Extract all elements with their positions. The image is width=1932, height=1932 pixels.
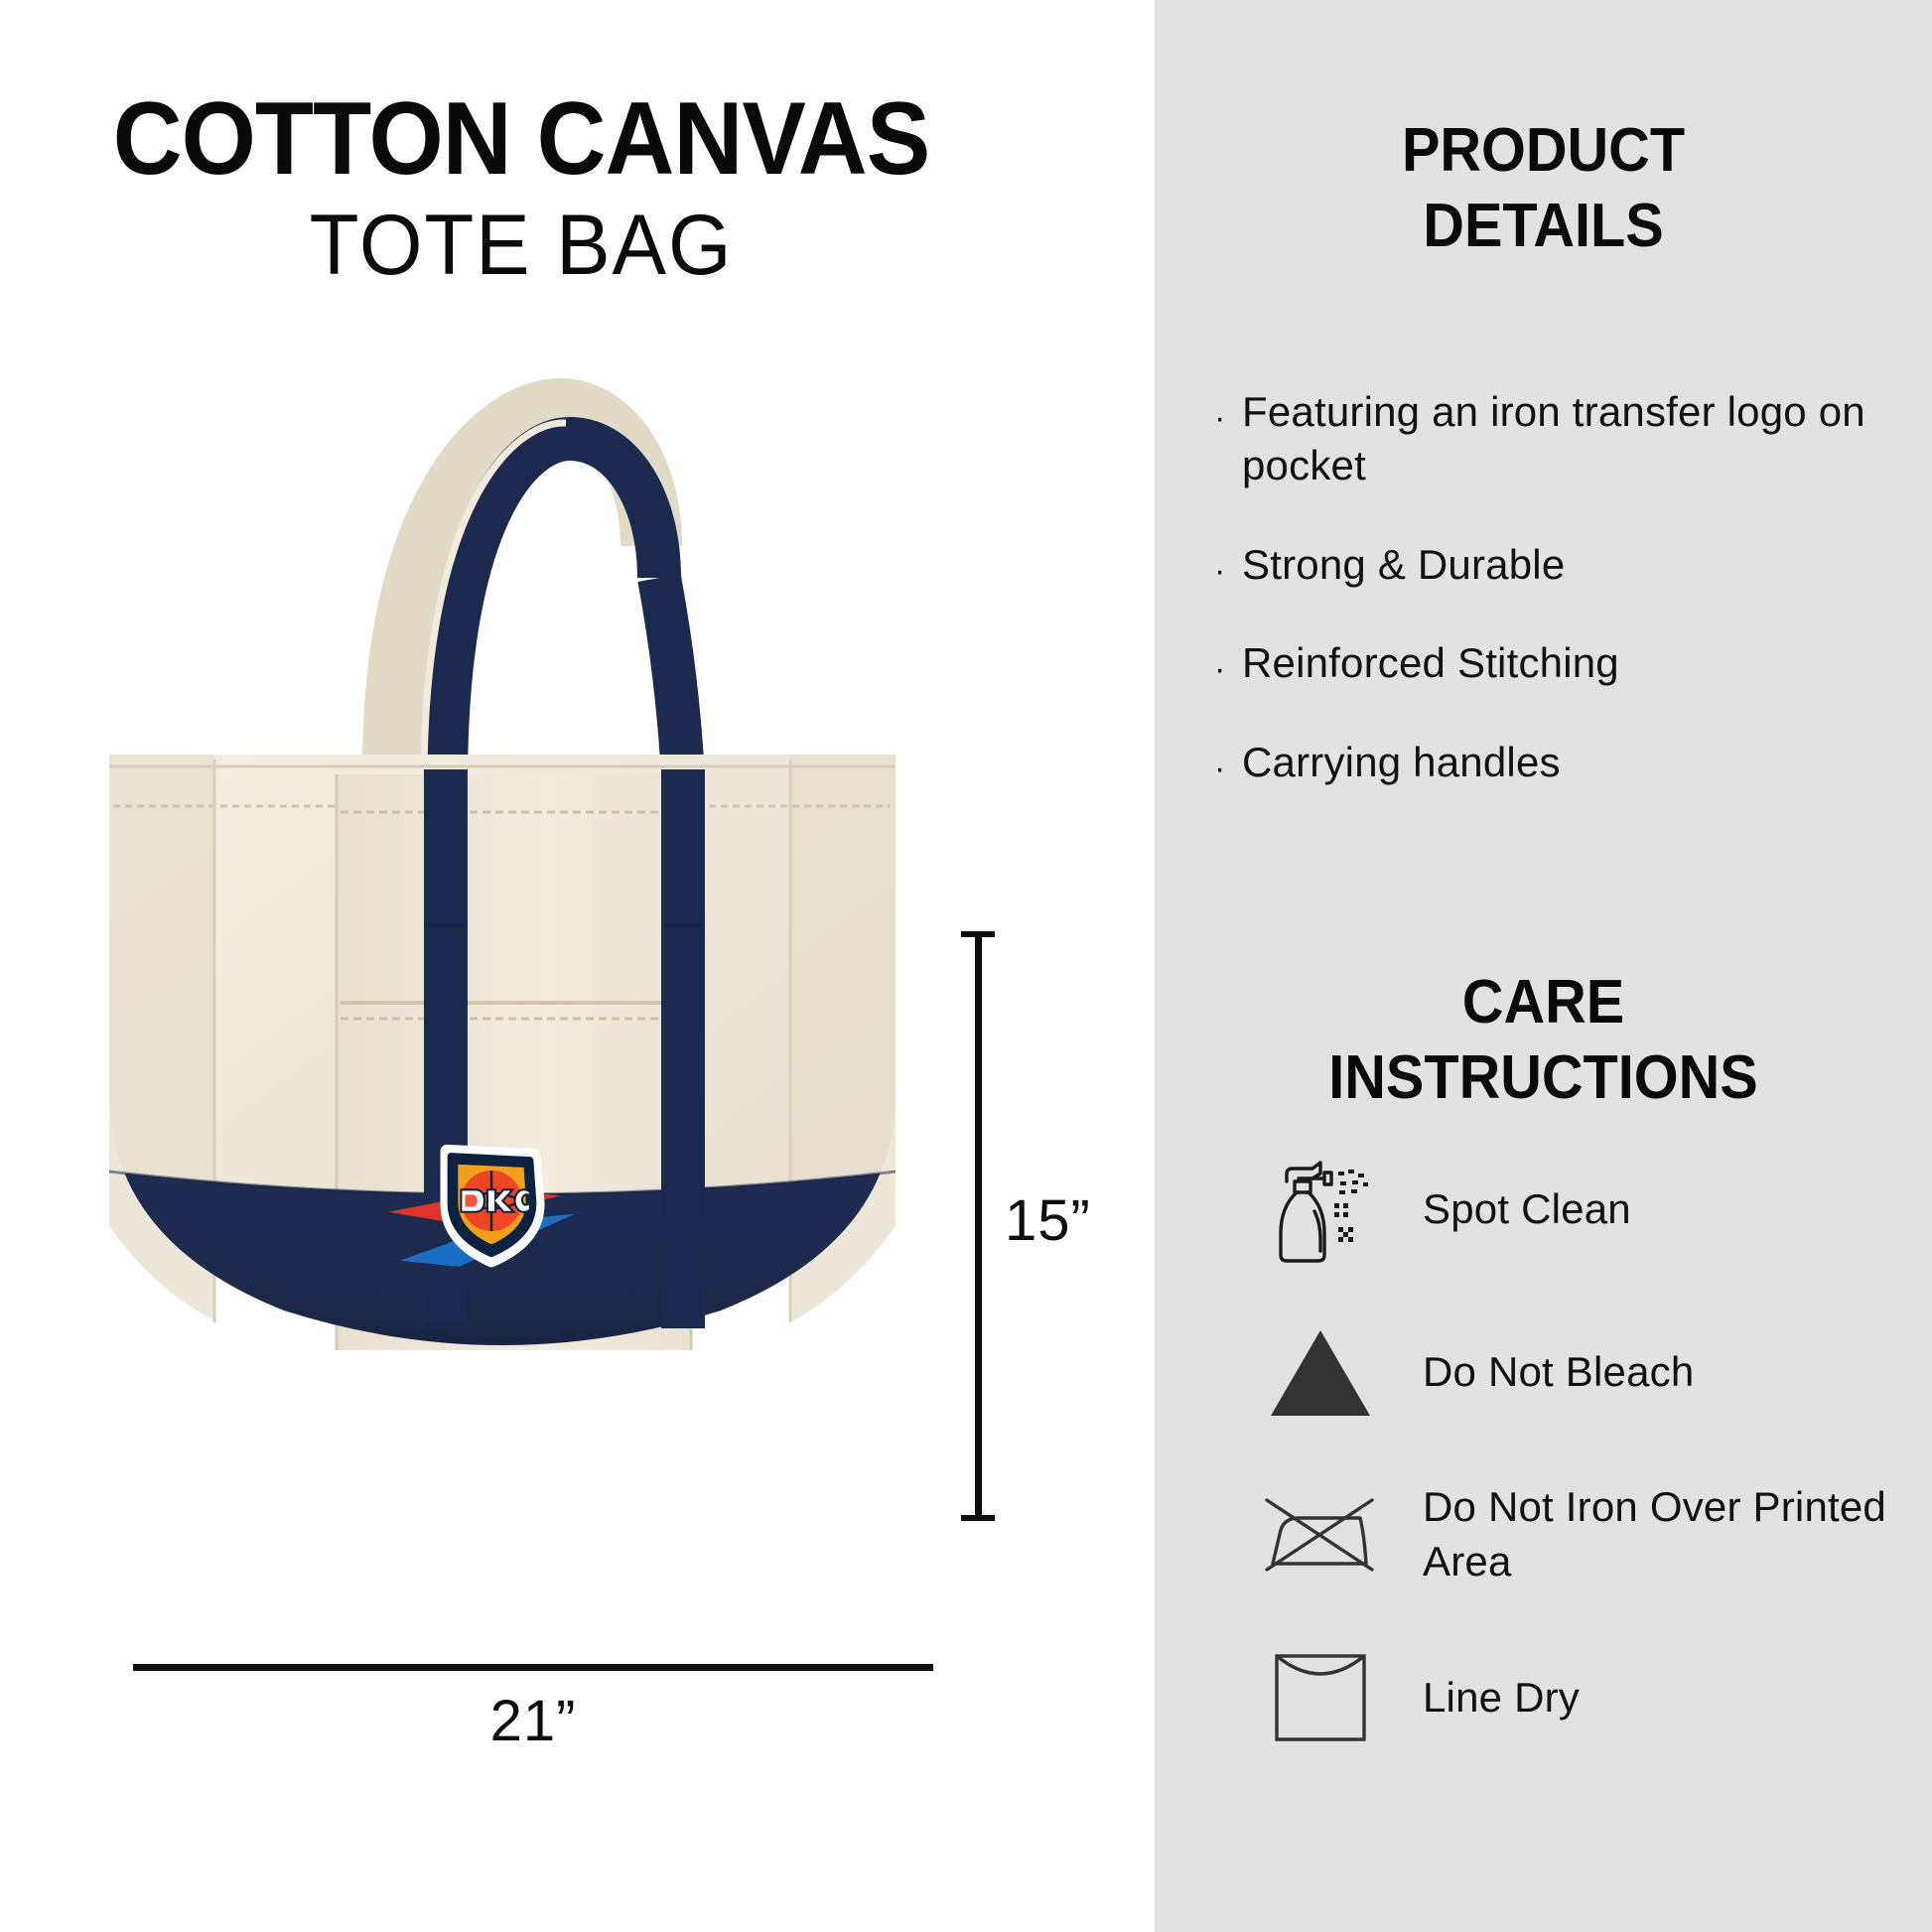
list-item-label: Strong & Durable [1242,538,1565,592]
title-block: COTTON CANVAS TOTE BAG [0,87,1042,295]
product-details-heading: PRODUCT DETAILS [1181,113,1904,263]
page-title: COTTON CANVAS [37,87,1007,191]
height-dimension-cap-top [961,931,995,937]
do-not-iron-icon [1246,1471,1395,1598]
bullet-icon: · [1214,736,1242,785]
care-label: Do Not Bleach [1395,1345,1694,1400]
list-item-label: Featuring an iron transfer logo on pocke… [1242,385,1909,492]
do-not-bleach-triangle-icon [1246,1309,1395,1436]
list-item: · Reinforced Stitching [1214,636,1909,690]
care-label: Line Dry [1395,1671,1580,1725]
line-dry-icon [1246,1634,1395,1761]
page-subtitle: TOTE BAG [26,197,1017,295]
list-item-label: Reinforced Stitching [1242,636,1619,690]
care-instructions-heading-line1: CARE [1181,965,1904,1040]
bullet-icon: · [1214,538,1242,588]
bullet-icon: · [1214,636,1242,686]
product-details-heading-line2: DETAILS [1181,189,1904,264]
bag-handles [393,409,659,784]
bag-handle-right [659,578,683,784]
care-label: Do Not Iron Over Printed Area [1395,1480,1921,1588]
list-item-label: Carrying handles [1242,736,1561,789]
infographic-page: COTTON CANVAS TOTE BAG [0,0,1932,1932]
care-row: Do Not Bleach [1246,1303,1921,1442]
care-instructions-list: Spot Clean Do Not Bleach [1246,1140,1921,1791]
care-label: Spot Clean [1395,1182,1631,1237]
product-details-list: · Featuring an iron transfer logo on poc… [1214,385,1909,835]
tote-bag-image [95,318,909,1449]
spray-bottle-icon [1246,1146,1395,1273]
width-dimension-label: 21” [133,1688,933,1754]
list-item: · Carrying handles [1214,736,1909,789]
list-item: · Featuring an iron transfer logo on poc… [1214,385,1909,492]
care-row: Do Not Iron Over Printed Area [1246,1465,1921,1604]
height-dimension-label: 15” [1005,1187,1091,1254]
height-dimension-cap-bottom [961,1515,995,1521]
care-row: Line Dry [1246,1628,1921,1767]
care-row: Spot Clean [1246,1140,1921,1279]
care-instructions-heading-line2: INSTRUCTIONS [1181,1040,1904,1116]
list-item: · Strong & Durable [1214,538,1909,592]
product-image-panel: COTTON CANVAS TOTE BAG [0,0,1155,1932]
width-dimension-line [133,1664,933,1671]
product-details-heading-line1: PRODUCT [1181,113,1904,189]
height-dimension-line [975,931,982,1521]
care-instructions-heading: CARE INSTRUCTIONS [1181,965,1904,1115]
bullet-icon: · [1214,385,1242,435]
product-info-panel: PRODUCT DETAILS · Featuring an iron tran… [1155,0,1932,1932]
